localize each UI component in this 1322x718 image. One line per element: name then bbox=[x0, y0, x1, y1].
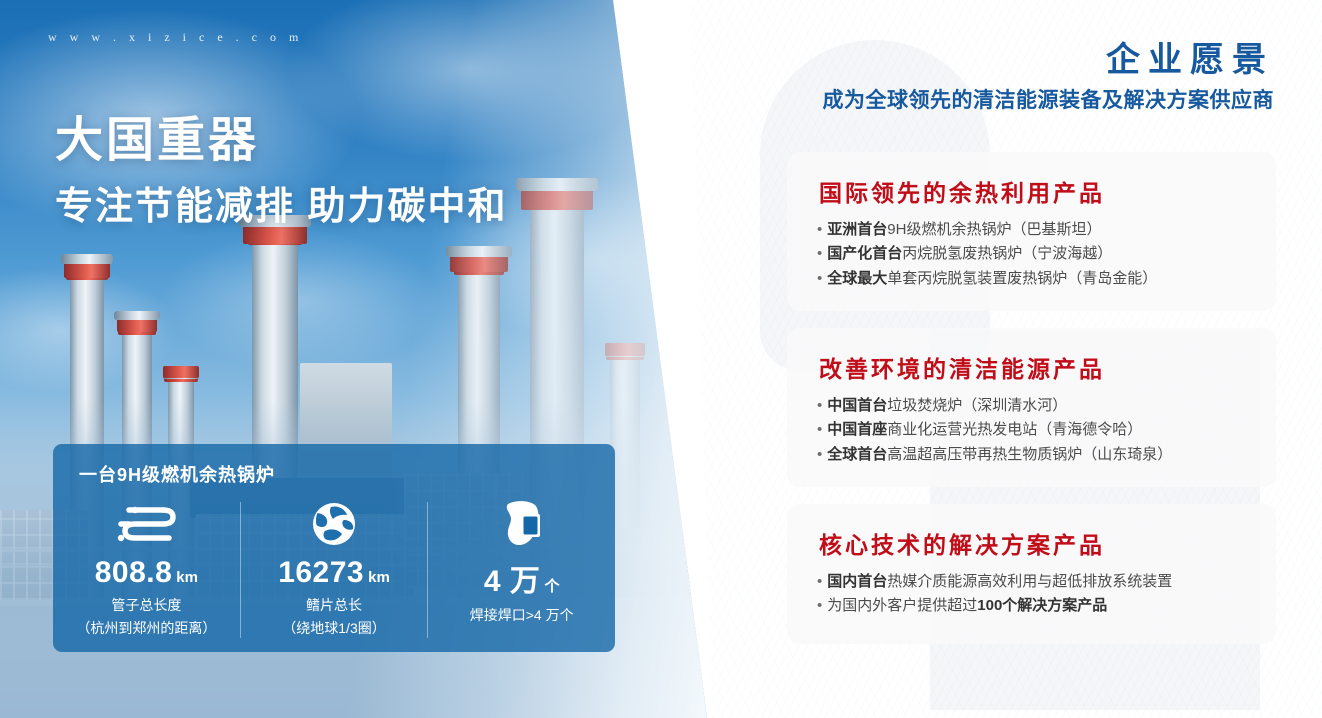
stat-item-weld-joints: 4 万个 焊接焊口>4 万个 bbox=[428, 496, 615, 652]
vision-card-3[interactable]: 核心技术的解决方案产品 •国内首台热媒介质能源高效利用与超低排放系统装置 •为国… bbox=[787, 504, 1276, 644]
bullet-text: 为国内外客户提供超过 bbox=[827, 597, 977, 614]
list-item: •中国首台垃圾焚烧炉（深圳清水河） bbox=[817, 394, 1258, 418]
card-bullet-list: •亚洲首台9H级燃机余热锅炉（巴基斯坦） •国产化首台丙烷脱氢废热锅炉（宁波海越… bbox=[817, 218, 1258, 291]
bullet-dot: • bbox=[817, 446, 822, 463]
bullet-strong: 国产化首台 bbox=[827, 245, 902, 262]
bullet-text: 单套丙烷脱氢装置废热锅炉（青岛金能） bbox=[887, 270, 1157, 287]
stack-cap bbox=[605, 343, 645, 356]
bullet-strong: 中国首座 bbox=[827, 421, 887, 438]
page-title: 企业愿景 bbox=[1106, 32, 1274, 81]
card-title: 改善环境的清洁能源产品 bbox=[819, 350, 1105, 384]
slide-stage: w w w . x i z i c e . c o m 大国重器 专注节能减排 … bbox=[0, 0, 1322, 718]
bullet-dot: • bbox=[817, 397, 822, 414]
bullet-dot: • bbox=[817, 270, 822, 287]
stat-label-line2: （杭州到郑州的距离） bbox=[76, 618, 216, 638]
welding-helmet-icon bbox=[499, 498, 545, 550]
bullet-strong-tail: 100个解决方案产品 bbox=[977, 597, 1107, 614]
stat-unit: 个 bbox=[544, 578, 559, 595]
stack-cap bbox=[450, 255, 508, 272]
stack-cap bbox=[163, 366, 199, 378]
list-item: •全球首台高温超高压带再热生物质锅炉（山东琦泉） bbox=[817, 443, 1258, 467]
stats-row: 808.8km 管子总长度 （杭州到郑州的距离） bbox=[53, 496, 615, 652]
bullet-text: 垃圾焚烧炉（深圳清水河） bbox=[887, 397, 1067, 414]
stat-value: 16273 bbox=[278, 556, 364, 589]
card-title: 核心技术的解决方案产品 bbox=[819, 526, 1105, 560]
bullet-dot: • bbox=[817, 421, 822, 438]
stat-item-pipe-length: 808.8km 管子总长度 （杭州到郑州的距离） bbox=[53, 496, 240, 652]
bullet-dot: • bbox=[817, 221, 822, 238]
card-title: 国际领先的余热利用产品 bbox=[819, 174, 1105, 208]
stat-value-wrap: 16273km bbox=[278, 556, 390, 590]
vision-card-2[interactable]: 改善环境的清洁能源产品 •中国首台垃圾焚烧炉（深圳清水河） •中国首座商业化运营… bbox=[787, 328, 1276, 487]
coil-pipe-icon bbox=[115, 498, 177, 550]
card-bullet-list: •中国首台垃圾焚烧炉（深圳清水河） •中国首座商业化运营光热发电站（青海德令哈）… bbox=[817, 394, 1258, 467]
stat-label-line1: 鳍片总长 bbox=[306, 595, 362, 615]
stat-label-line2: （绕地球1/3圈） bbox=[282, 618, 385, 638]
bullet-text: 高温超高压带再热生物质锅炉（山东琦泉） bbox=[887, 446, 1172, 463]
bullet-strong: 国内首台 bbox=[827, 573, 887, 590]
bullet-dot: • bbox=[817, 573, 822, 590]
bullet-text: 9H级燃机余热锅炉（巴基斯坦） bbox=[887, 221, 1101, 238]
bullet-text: 商业化运营光热发电站（青海德令哈） bbox=[887, 421, 1142, 438]
hero-photo-panel: w w w . x i z i c e . c o m 大国重器 专注节能减排 … bbox=[0, 0, 716, 718]
stack-cap bbox=[521, 190, 593, 210]
card-bullet-list: •国内首台热媒介质能源高效利用与超低排放系统装置 •为国内外客户提供超过100个… bbox=[817, 570, 1258, 619]
headline-sub: 专注节能减排 助力碳中和 bbox=[55, 175, 508, 230]
list-item: •国内首台热媒介质能源高效利用与超低排放系统装置 bbox=[817, 570, 1258, 594]
bullet-strong: 全球最大 bbox=[827, 270, 887, 287]
page-subtitle: 成为全球领先的清洁能源装备及解决方案供应商 bbox=[823, 84, 1275, 114]
stat-value: 4 万 bbox=[484, 565, 541, 598]
stack-cap bbox=[117, 318, 157, 332]
list-item: •全球最大单套丙烷脱氢装置废热锅炉（青岛金能） bbox=[817, 267, 1258, 291]
globe-icon bbox=[311, 498, 357, 550]
stat-value-wrap: 808.8km bbox=[95, 556, 198, 590]
list-item: •国产化首台丙烷脱氢废热锅炉（宁波海越） bbox=[817, 242, 1258, 266]
bullet-dot: • bbox=[817, 597, 822, 614]
stats-panel: 一台9H级燃机余热锅炉 808.8km bbox=[53, 444, 615, 652]
stack-cap bbox=[114, 311, 160, 320]
stat-label-line1: 管子总长度 bbox=[111, 595, 181, 615]
headline-main: 大国重器 bbox=[55, 100, 259, 170]
list-item: •为国内外客户提供超过100个解决方案产品 bbox=[817, 594, 1258, 618]
stat-label-line1: 焊接焊口>4 万个 bbox=[470, 605, 574, 625]
stat-unit: km bbox=[368, 569, 390, 586]
bullet-text: 热媒介质能源高效利用与超低排放系统装置 bbox=[887, 573, 1172, 590]
stack-cap bbox=[64, 262, 110, 278]
stats-panel-title: 一台9H级燃机余热锅炉 bbox=[79, 461, 275, 487]
stat-value: 808.8 bbox=[95, 556, 173, 589]
list-item: •亚洲首台9H级燃机余热锅炉（巴基斯坦） bbox=[817, 218, 1258, 242]
vision-card-1[interactable]: 国际领先的余热利用产品 •亚洲首台9H级燃机余热锅炉（巴基斯坦） •国产化首台丙… bbox=[787, 152, 1276, 311]
stack-cap bbox=[61, 254, 113, 264]
stat-value-wrap: 4 万个 bbox=[484, 556, 560, 600]
list-item: •中国首座商业化运营光热发电站（青海德令哈） bbox=[817, 418, 1258, 442]
stat-item-fin-length: 16273km 鳍片总长 （绕地球1/3圈） bbox=[241, 496, 428, 652]
bullet-strong: 全球首台 bbox=[827, 446, 887, 463]
bullet-text: 丙烷脱氢废热锅炉（宁波海越） bbox=[902, 245, 1112, 262]
stat-unit: km bbox=[176, 569, 198, 586]
site-url: w w w . x i z i c e . c o m bbox=[48, 30, 303, 45]
stack-cap bbox=[446, 246, 512, 257]
bullet-strong: 中国首台 bbox=[827, 397, 887, 414]
bullet-dot: • bbox=[817, 245, 822, 262]
stack-cap bbox=[516, 178, 598, 191]
bullet-strong: 亚洲首台 bbox=[827, 221, 887, 238]
